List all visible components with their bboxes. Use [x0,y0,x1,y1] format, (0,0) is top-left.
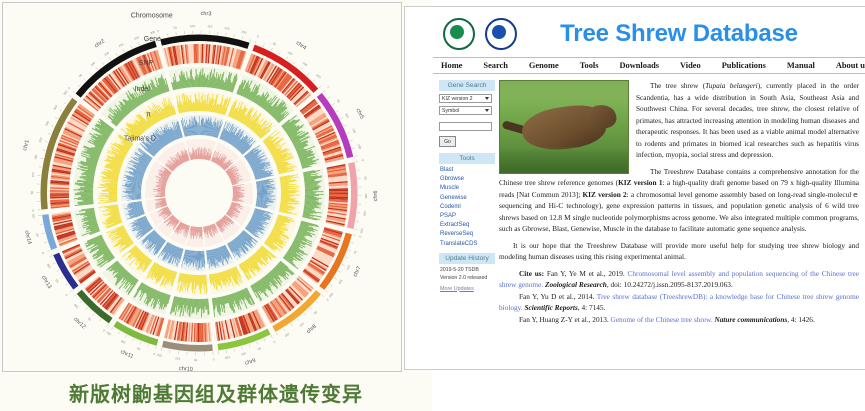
axis-tick [286,57,288,60]
tick-label: 150 [351,128,357,134]
tick-label: 50 [87,316,92,321]
track-label: Indel [135,86,151,93]
axis-tick [133,339,134,342]
axis-tick [297,319,299,321]
go-button[interactable]: Go [439,136,456,147]
tick-label: 200 [118,42,125,48]
axis-tick [350,140,353,141]
cite-us-label: Cite us: [519,269,547,278]
citation-authors: Fan Y, Huang Z-Y et al., 2013. [519,315,611,324]
gene-density-cell [199,44,200,63]
tick-label: 0 [361,159,365,162]
tick-label: 0 [358,235,362,238]
circos-svg: 0501001502002503003500501001502002503000… [3,3,401,371]
axis-tick [107,324,109,326]
chromosome-label: chr13 [40,275,52,290]
nav-item-video[interactable]: Video [680,61,701,70]
axis-tick [53,263,56,264]
axis-tick [47,250,50,251]
axis-tick [353,235,356,236]
axis-tick [322,295,324,297]
tick-label: 150 [362,211,367,217]
paragraph-hope: It is our hope that the Treeshrew Databa… [499,240,859,263]
tool-link-genewise[interactable]: Genewise [440,195,495,201]
axis-tick [264,339,265,342]
nav-item-tools[interactable]: Tools [580,61,599,70]
axis-tick [323,90,325,92]
axis-tick [347,132,350,133]
axis-tick [125,335,126,338]
circos-plot: 0501001502002503003500501001502002503000… [2,2,402,372]
axis-tick [279,52,280,55]
axis-tick [307,73,309,75]
axis-tick [271,48,272,51]
tick-label: 150 [105,330,112,336]
axis-tick [140,342,141,345]
citation-title-link[interactable]: Genome of the Chinese tree shrew. [611,315,715,324]
axis-tick [255,41,256,44]
histogram-bar [199,275,200,290]
axis-tick [48,133,51,134]
tick-label: 200 [357,144,362,150]
citation-3: Fan Y, Huang Z-Y et al., 2013. Genome of… [499,314,859,326]
nav-item-search[interactable]: Search [483,61,508,70]
update-line-2: Version 2.0 released [440,275,495,282]
axis-tick [73,91,75,93]
tick-label: 100 [73,303,80,310]
citation-journal: Scientific Reports [524,303,577,312]
axis-tick [340,118,343,119]
chromosome-label: chr8 [306,324,318,336]
axis-tick [325,291,327,293]
axis-tick [330,284,332,286]
tick-label: 150 [33,154,38,160]
axis-tick [283,328,285,331]
citation-tail: , 4: 7145. [578,303,606,312]
genome-version-value: KIZ version 2 [442,96,473,102]
histogram-bar [198,299,199,312]
histogram-bar [199,299,200,309]
track-label: Gene [144,36,161,43]
nav-item-about-us[interactable]: About us [836,61,865,70]
chromosome-label: chr11 [119,349,134,360]
tick-label: 300 [52,104,58,111]
axis-tick [89,73,91,75]
tick-label: 100 [298,321,305,327]
cas-logo-icon [485,18,517,50]
chromosome-label: chr4 [295,40,307,51]
axis-tick [234,349,235,352]
axis-tick [111,327,113,330]
nav-item-publications[interactable]: Publications [722,61,766,70]
gene-search-header: Gene Search [439,80,495,91]
tree-shrew-photo [499,80,629,174]
tool-link-blast[interactable]: Blast [440,167,495,173]
histogram-bar [199,93,200,111]
axis-tick [40,224,43,225]
citation-journal: Zoological Research [545,280,607,289]
citation-tail: , 4: 1426. [787,315,815,324]
axis-tick [45,141,48,142]
axis-tick [328,97,330,99]
gene-density-cell [50,191,69,192]
tick-label: 0 [64,293,68,297]
text-run: ), currently placed in the order Scanden… [636,81,859,159]
axis-tick [304,313,306,315]
histogram-bar [198,78,199,87]
axis-tick [242,36,243,39]
axis-tick [50,256,53,257]
axis-tick [310,307,312,309]
axis-tick [354,156,357,157]
axis-tick [342,264,345,265]
tick-label: 350 [62,89,68,96]
axis-tick [65,284,67,286]
tools-header: Tools [439,153,495,164]
axis-tick [42,150,45,151]
tick-label: 100 [346,264,352,271]
tick-label: 200 [38,137,43,143]
tick-label: 150 [157,353,163,358]
tick-label: 100 [175,356,181,361]
axis-tick [334,278,337,280]
citation-2: Fan Y, Yu D et al., 2014. Tree shrew dat… [499,291,859,314]
chromosome-band [162,341,213,352]
tick-label: 50 [353,250,358,255]
tool-link-extractseq[interactable]: ExtractSeq [440,222,495,228]
axis-tick [355,161,358,162]
tool-link-muscle[interactable]: Muscle [440,185,495,191]
axis-tick [78,85,80,87]
tick-label: 0 [212,357,214,361]
tick-label: 150 [284,332,291,338]
chromosome-label: chr5 [354,108,364,120]
nav-item-home[interactable]: Home [441,61,462,70]
axis-tick [313,79,315,81]
tick-label: 200 [315,73,322,80]
axis-tick [250,39,251,42]
citations-block: Cite us: Fan Y, Ye M et al., 2019. Chrom… [499,268,859,326]
figure-page: 0501001502002503003500501001502002503000… [0,0,865,411]
text-run: KIZ version 1 [618,178,662,187]
axis-tick [42,233,45,234]
tool-link-reverseseq[interactable]: ReverseSeq [440,231,495,237]
axis-tick [348,250,351,251]
axis-tick [226,350,227,353]
histogram-bar [200,299,201,308]
chromosome-label: chr10 [179,366,193,371]
tick-label: 300 [150,30,156,35]
sidebar: Gene Search KIZ version 2 Symbol Go Tool… [433,80,495,325]
tool-link-gbrowse[interactable]: Gbrowse [440,176,495,182]
photo-grass-bottom [500,147,628,173]
axis-tick [276,333,277,336]
tick-label: 150 [207,24,213,28]
axis-tick [118,331,119,334]
tick-label: 100 [287,50,294,56]
axis-tick [170,350,171,353]
axis-tick [99,319,101,321]
tick-label: 100 [240,351,246,356]
axis-tick [249,344,250,347]
gene-density-cell [329,191,348,192]
citation-authors: Fan Y, Ye M et al., 2019. [547,269,628,278]
update-line-1: 2019-5-20 TSDB [440,267,495,274]
histogram-bar [281,193,293,194]
axis-tick [300,67,302,69]
nav-item-downloads[interactable]: Downloads [619,61,659,70]
histogram-bar [199,125,200,135]
axis-tick [55,117,58,118]
axis-tick [51,125,54,126]
chevron-down-icon [485,97,489,100]
track-label: Tajima's D [124,136,156,143]
tick-label: 50 [257,346,262,351]
tick-label: 50 [336,99,341,104]
chromosome-label: chr7 [352,266,362,278]
axis-tick [263,44,264,47]
axis-tick [271,335,272,338]
gene-search-input[interactable] [439,122,492,131]
axis-tick [74,295,76,297]
chromosome-label: chr14 [23,230,32,245]
chromosome-label: chr1 [22,139,31,151]
tool-link-psap[interactable]: PSAP [440,213,495,219]
axis-tick [138,42,139,45]
tick-label: 150 [224,355,230,360]
citation-journal: Nature communications [714,315,787,324]
tick-label: 100 [120,339,127,345]
axis-tick [80,301,82,303]
track-label: π [146,111,151,118]
chromosome-label: chr6 [373,190,379,201]
tick-label: 0 [41,251,45,254]
citation-tail: , doi: 10.24272/j.issn.2095-8137.2019.06… [607,280,733,289]
histogram-bar [305,192,316,193]
tick-label: 250 [133,35,139,41]
histogram-bar [109,192,117,193]
axis-tick [40,158,43,159]
tick-label: 150 [337,278,343,285]
nav-item-manual[interactable]: Manual [787,61,815,70]
more-updates-link[interactable]: More Updates [440,286,495,292]
tick-label: 200 [224,26,230,31]
site-title: Tree Shrew Database [517,20,865,48]
axis-tick [96,68,98,70]
website-screenshot: Tree Shrew Database Home Search Genome T… [404,6,865,370]
tick-label: 50 [136,346,141,351]
tick-label: 100 [90,61,97,67]
tick-label: 150 [103,51,110,57]
axis-tick [44,242,47,243]
chromosome-label: chr2 [94,38,106,49]
genome-version-select[interactable]: KIZ version 2 [439,94,492,103]
chromosome-label: chr3 [200,11,211,17]
text-run: It is our hope that the Treeshrew Databa… [499,241,859,262]
chromosome-label: chr12 [72,316,86,330]
histogram-bar [257,193,267,194]
axis-tick [316,301,318,303]
axis-tick [319,86,321,88]
tick-label: 0 [325,298,329,302]
tick-label: 100 [344,112,350,119]
chromosome-band [347,162,357,229]
histogram-bar [198,275,199,286]
axis-tick [242,347,243,350]
tick-label: 0 [326,86,330,90]
chromosome-label: chr9 [244,358,256,367]
tick-label: 50 [272,41,277,46]
text-run: Tupaia belangeri [705,81,758,90]
histogram-bar [281,194,289,195]
histogram-bar [199,72,200,87]
histogram-bar [198,102,199,111]
histogram-bar [199,99,200,111]
track-label: Chromosome [131,12,173,19]
tick-label: 0 [31,209,35,211]
gene-density-cell [198,323,199,342]
tick-label: 200 [328,292,334,299]
axis-tick [109,58,111,60]
text-run: KIZ version 2 [582,190,626,199]
tick-label: 0 [272,340,276,344]
chevron-down-icon [485,109,489,112]
tick-label: 100 [31,172,36,178]
histogram-bar [77,192,93,193]
axis-tick [234,34,235,37]
tool-link-translatecds[interactable]: TranslateCDS [440,241,495,247]
tick-label: 250 [44,120,50,127]
axis-tick [156,347,157,350]
kiz-logo-icon [443,18,475,50]
tick-label: 50 [30,191,34,195]
citation-authors: Fan Y, Yu D et al., 2014. [519,292,597,301]
tick-label: 0 [153,352,156,356]
histogram-bar [281,192,296,193]
gene-density-cell [50,193,69,194]
tick-label: 200 [359,228,364,234]
tick-label: 100 [190,24,195,28]
gene-density-cell [199,323,200,342]
tick-label: 0 [256,35,259,39]
axis-tick [168,34,169,37]
axis-tick [69,95,71,97]
tick-label: 250 [241,30,247,35]
axis-tick [59,110,62,112]
tick-label: 50 [313,310,318,315]
axis-tick [116,53,118,56]
search-type-select[interactable]: Symbol [439,106,492,115]
citation-1: Cite us: Fan Y, Ye M et al., 2019. Chrom… [499,268,859,291]
site-header: Tree Shrew Database [433,7,865,57]
tool-link-codeml[interactable]: Codeml [440,204,495,210]
axis-tick [345,257,348,258]
text-run: The tree shrew ( [650,81,705,90]
search-type-value: Symbol [442,108,459,114]
axis-tick [161,348,162,351]
axis-tick [92,313,94,315]
histogram-bar [305,193,315,194]
right-figure-panel: Tree Shrew Database Home Search Genome T… [432,0,865,411]
tick-label: 0 [157,29,160,33]
tick-label: 50 [363,176,367,180]
update-history-header: Update History [439,253,495,264]
axis-tick [102,62,104,64]
paragraph-database: The Treeshrew Database contains a compre… [499,166,859,235]
histogram-bar [126,193,141,194]
axis-tick [354,229,357,230]
axis-tick [336,110,339,112]
tick-label: 50 [35,233,40,238]
main-nav[interactable]: Home Search Genome Tools Downloads Video… [433,57,865,74]
axis-tick [148,344,149,347]
nav-item-genome[interactable]: Genome [529,61,559,70]
axis-tick [84,79,86,81]
axis-tick [226,33,227,36]
axis-tick [352,148,355,149]
tick-label: 50 [54,278,59,283]
axis-tick [332,103,335,105]
axis-tick [64,103,66,105]
track-label: SNP [139,60,154,67]
gene-density-cell [198,44,199,63]
gene-density-cell [329,193,348,194]
tick-label: 50 [78,73,83,78]
left-figure-panel: 0501001502002503003500501001502002503000… [0,0,432,411]
axis-tick [356,221,359,222]
axis-tick [57,270,60,271]
axis-tick [351,242,354,243]
main-content: The tree shrew (Tupaia belangeri), curre… [495,80,865,325]
tick-label: 50 [173,25,177,29]
tick-label: 100 [31,213,36,219]
axis-tick [290,324,292,326]
axis-tick [293,62,295,64]
histogram-bar [199,75,200,87]
histogram-bar [109,192,117,193]
tick-label: 50 [194,358,198,362]
axis-tick [338,271,341,272]
tick-label: 150 [302,61,309,67]
photo-grass-top [500,81,628,103]
tick-label: 0 [67,86,71,90]
tick-label: 0 [102,328,106,332]
caption-left: 新版树鼩基因组及群体遗传变异 [0,378,432,407]
axis-tick [70,290,72,292]
axis-tick [257,342,258,345]
axis-tick [61,277,64,279]
axis-tick [344,125,347,126]
axis-tick [123,49,124,52]
axis-tick [86,307,88,309]
axis-tick [131,46,132,49]
tick-label: 100 [46,263,52,270]
tick-label: 100 [364,193,368,198]
